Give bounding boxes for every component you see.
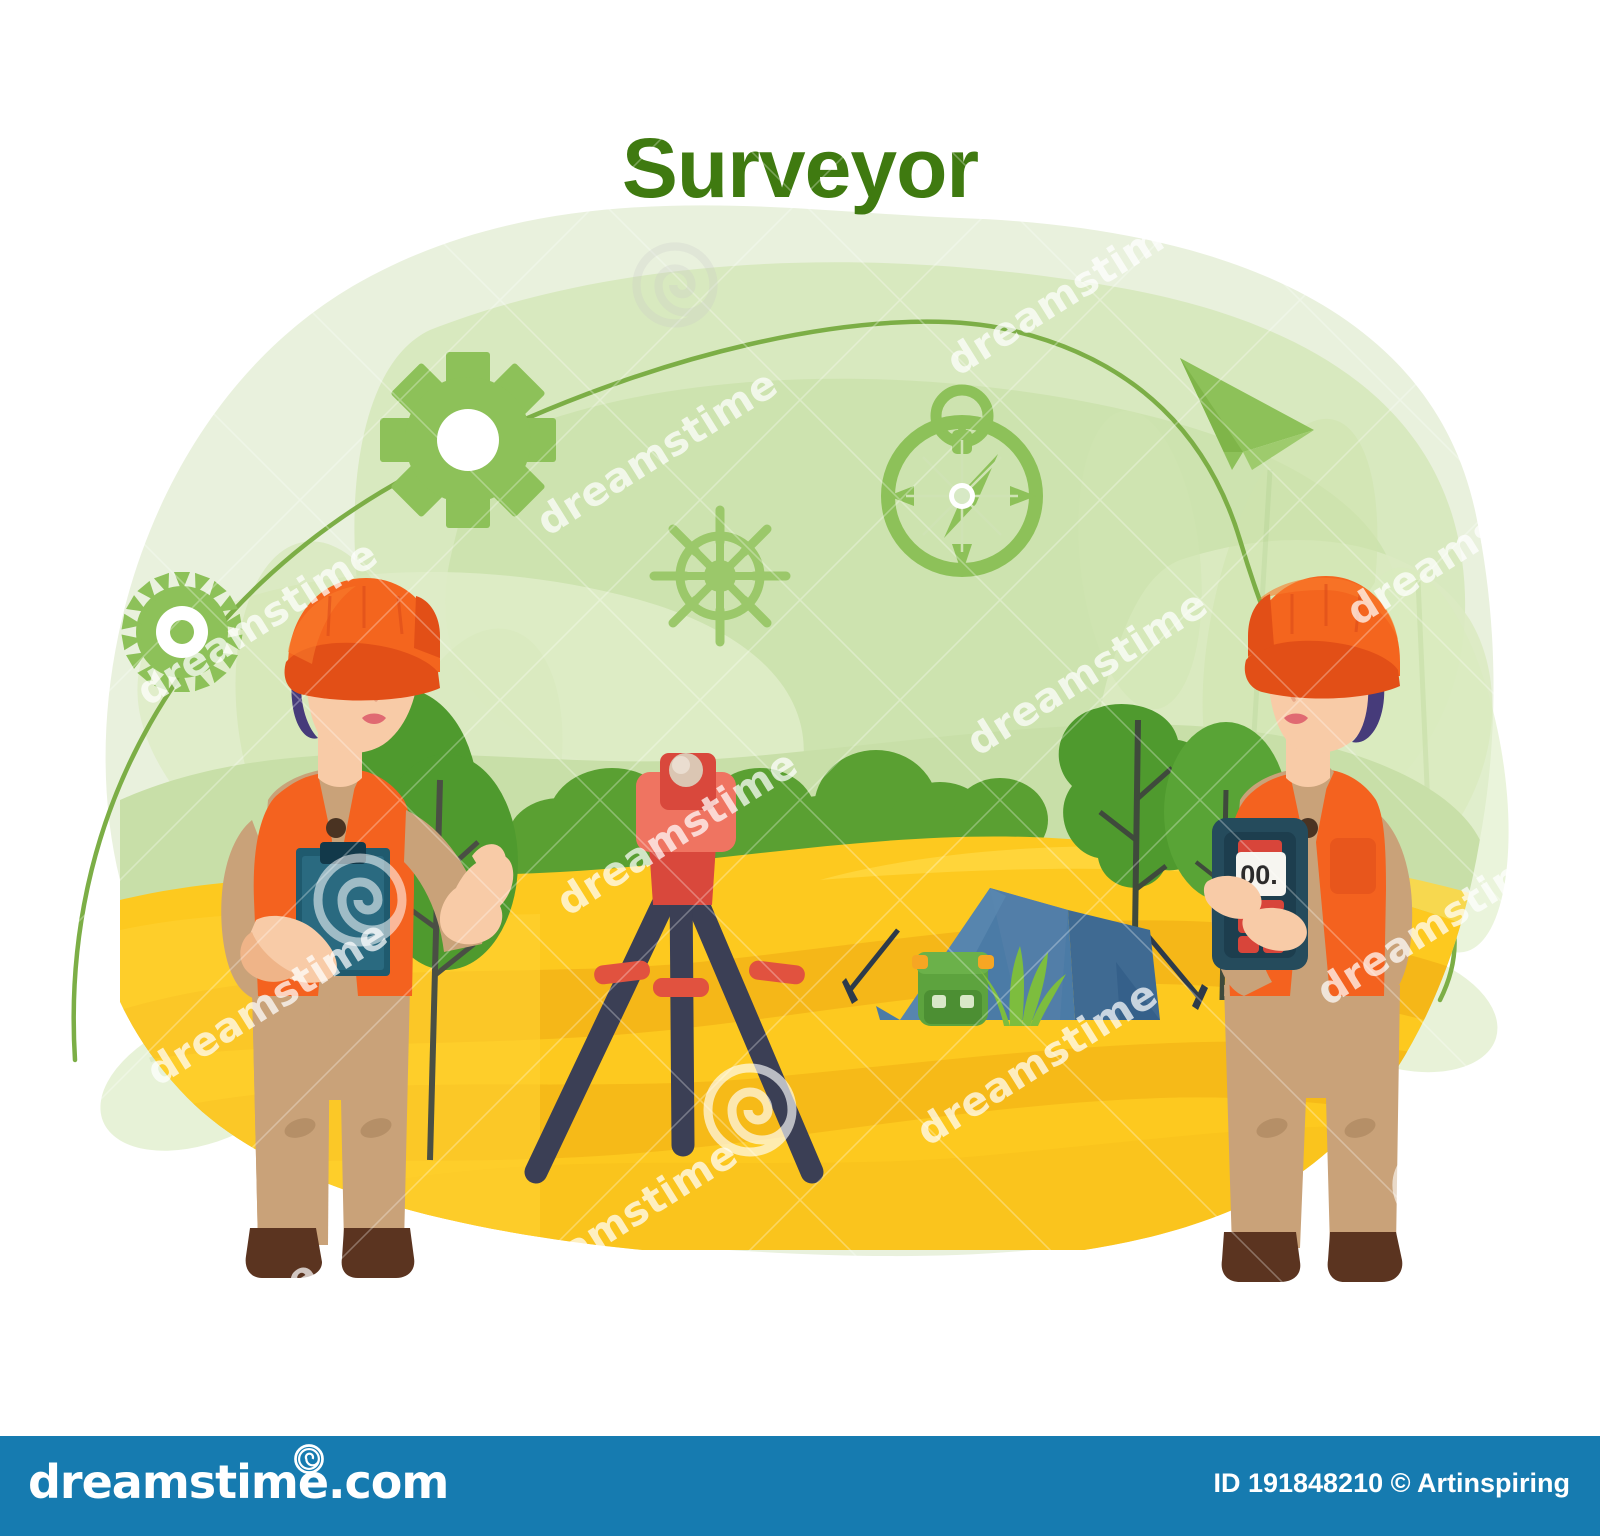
gear-icon-small [122,572,243,692]
ship-wheel-icon [654,510,786,642]
backpack [912,952,994,1026]
surveyor-illustration: 00. [0,0,1600,1536]
image-credit: ID 191848210 © Artinspiring [1213,1468,1570,1499]
dreamstime-logo-spiral [291,1441,327,1477]
illustration-stage: 00. [0,0,1600,1536]
dreamstime-logo[interactable]: dreamstime.com [28,1455,448,1509]
page-title: Surveyor [0,126,1600,210]
gear-icon-large [380,352,556,528]
